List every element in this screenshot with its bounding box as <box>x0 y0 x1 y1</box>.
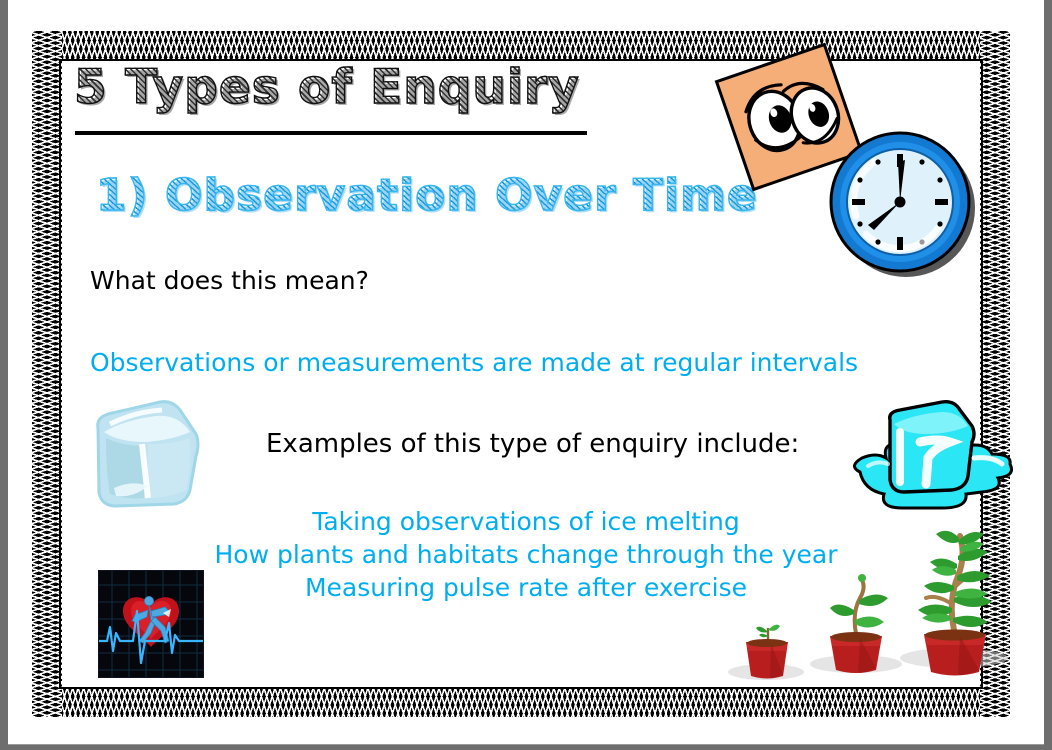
question-text: What does this mean? <box>90 266 369 295</box>
clock-icon <box>826 128 978 280</box>
slide-page: 5 Types of Enquiry 1) Observation Over T… <box>8 0 1044 745</box>
definition-text: Observations or measurements are made at… <box>90 348 858 377</box>
examples-header-text: Examples of this type of enquiry include… <box>266 429 799 459</box>
plant-growth-stages-icon <box>726 524 1016 692</box>
slide-content: 5 Types of Enquiry 1) Observation Over T… <box>8 0 1044 745</box>
pulse-rate-ecg-image <box>98 570 204 678</box>
melting-ice-cube-icon <box>846 398 1018 516</box>
page-title-underline <box>75 131 587 135</box>
page-title: 5 Types of Enquiry <box>74 60 580 115</box>
ice-cube-icon <box>86 398 204 510</box>
subtitle-observation-over-time: 1) Observation Over Time <box>96 170 758 221</box>
